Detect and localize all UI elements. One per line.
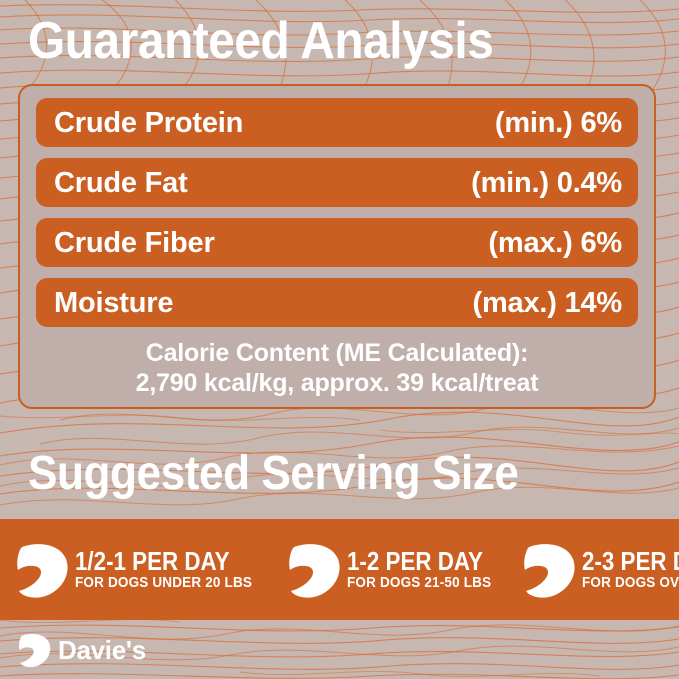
treat-icon — [18, 632, 52, 668]
serving-subtitle: FOR DOGS UNDER 20 LBS — [75, 574, 252, 591]
brand-logo: Davie's — [18, 632, 146, 668]
analysis-row-value: (min.) 0.4% — [471, 168, 622, 198]
analysis-row-value: (min.) 6% — [495, 108, 622, 138]
analysis-row-value: (max.) 6% — [488, 228, 622, 258]
serving-amount: 2-3 PER DAY — [582, 549, 679, 574]
analysis-row-label: Crude Fiber — [54, 228, 215, 258]
analysis-row-label: Moisture — [54, 288, 173, 318]
product-label-panel: Guaranteed Analysis Crude Protein (min.)… — [0, 0, 679, 679]
serving-amount: 1-2 PER DAY — [347, 549, 485, 574]
calorie-content-value: 2,790 kcal/kg, approx. 39 kcal/treat — [36, 368, 638, 398]
analysis-row: Crude Protein (min.) 6% — [36, 98, 638, 147]
serving-size-band: 1/2-1 PER DAY FOR DOGS UNDER 20 LBS 1-2 … — [0, 519, 679, 620]
calorie-content-block: Calorie Content (ME Calculated): 2,790 k… — [36, 338, 638, 398]
analysis-row: Moisture (max.) 14% — [36, 278, 638, 327]
brand-name: Davie's — [58, 637, 146, 663]
serving-text: 2-3 PER DAY FOR DOGS OVER 50 LBS — [582, 549, 679, 591]
treat-icon — [523, 541, 577, 599]
serving-amount: 1/2-1 PER DAY — [75, 549, 244, 574]
guaranteed-analysis-card: Crude Protein (min.) 6% Crude Fat (min.)… — [18, 84, 656, 409]
serving-subtitle: FOR DOGS OVER 50 LBS — [582, 574, 679, 591]
analysis-row: Crude Fiber (max.) 6% — [36, 218, 638, 267]
guaranteed-analysis-title: Guaranteed Analysis — [28, 13, 493, 69]
treat-icon — [16, 541, 70, 599]
serving-item: 1-2 PER DAY FOR DOGS 21-50 LBS — [288, 541, 507, 599]
analysis-row-value: (max.) 14% — [472, 288, 622, 318]
serving-subtitle: FOR DOGS 21-50 LBS — [347, 574, 491, 591]
suggested-serving-size-title: Suggested Serving Size — [28, 448, 519, 500]
serving-text: 1/2-1 PER DAY FOR DOGS UNDER 20 LBS — [75, 549, 272, 591]
calorie-content-label: Calorie Content (ME Calculated): — [36, 338, 638, 368]
analysis-row-label: Crude Protein — [54, 108, 243, 138]
analysis-row: Crude Fat (min.) 0.4% — [36, 158, 638, 207]
serving-item: 1/2-1 PER DAY FOR DOGS UNDER 20 LBS — [16, 541, 272, 599]
serving-item: 2-3 PER DAY FOR DOGS OVER 50 LBS — [523, 541, 679, 599]
serving-text: 1-2 PER DAY FOR DOGS 21-50 LBS — [347, 549, 507, 591]
treat-icon — [288, 541, 342, 599]
analysis-row-label: Crude Fat — [54, 168, 188, 198]
